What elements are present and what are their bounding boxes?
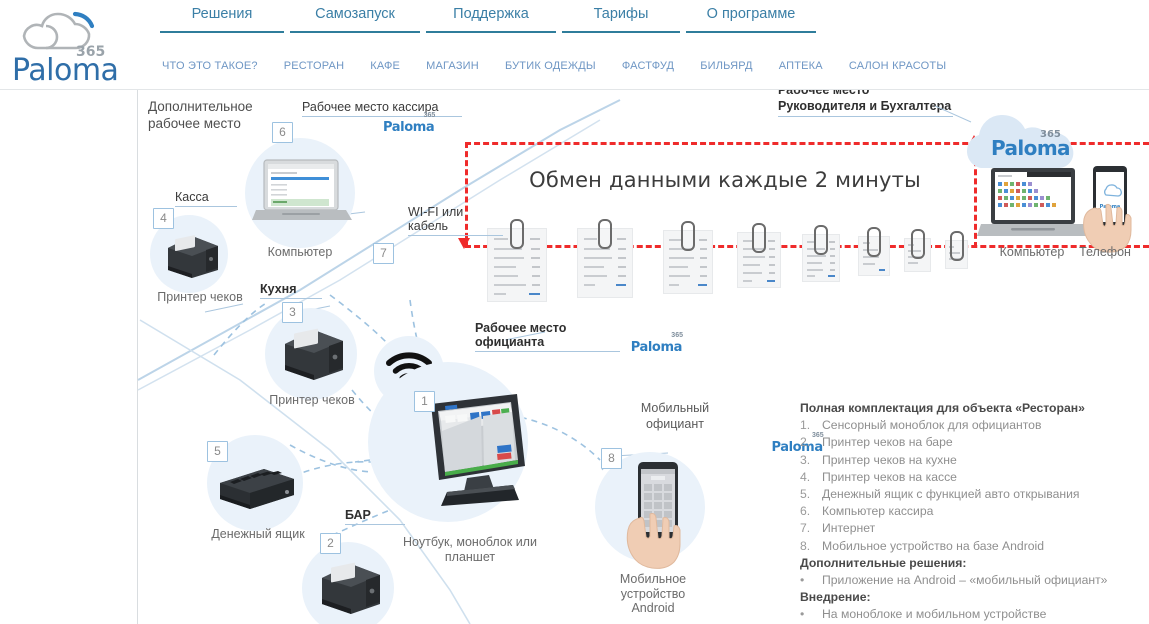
svg-text:365: 365 bbox=[1040, 129, 1061, 140]
spec-number: 8. bbox=[800, 538, 822, 555]
callout-underline bbox=[302, 116, 462, 117]
spec-extra-title: Дополнительные решения: bbox=[800, 555, 1130, 572]
badge-1[interactable]: 1 bbox=[414, 391, 435, 412]
paperclip-icon bbox=[598, 219, 612, 249]
callout-underline bbox=[260, 298, 322, 299]
android-phone-in-hand-image bbox=[620, 458, 696, 587]
spec-number: 4. bbox=[800, 469, 822, 486]
device-label-android: Мобильное устройство Android bbox=[598, 572, 708, 616]
drawer-svg bbox=[216, 465, 298, 515]
callout-underline bbox=[778, 116, 953, 117]
spec-number: 3. bbox=[800, 452, 822, 469]
main-navigation: Решения Самозапуск Поддержка Тарифы О пр… bbox=[160, 4, 816, 38]
subnav-item-magazin[interactable]: МАГАЗИН bbox=[426, 60, 479, 72]
device-label-line2: устройство bbox=[598, 587, 708, 602]
manager-leader-line bbox=[935, 102, 975, 126]
subnav-item-butik-odezhdy[interactable]: БУТИК ОДЕЖДЫ bbox=[505, 60, 596, 72]
laptop-svg bbox=[977, 166, 1089, 244]
spec-item: 5. Денежный ящик с функцией авто открыва… bbox=[800, 486, 1130, 503]
flow-arrow-down-icon bbox=[458, 238, 470, 249]
spec-text: На моноблоке и мобильном устройстве уста… bbox=[822, 606, 1130, 624]
device-label-line1: Мобильное bbox=[598, 572, 708, 587]
spec-number: 5. bbox=[800, 486, 822, 503]
receipt-item bbox=[858, 236, 890, 276]
callout-label: Рабочее место кассира bbox=[302, 100, 439, 114]
bullet-icon: • bbox=[800, 606, 822, 624]
spec-impl-title: Внедрение: bbox=[800, 589, 1130, 606]
printer-svg bbox=[278, 320, 348, 382]
callout-label: WI-FI или кабель bbox=[408, 205, 463, 233]
spec-number: 2. bbox=[800, 434, 822, 451]
printer-svg bbox=[162, 228, 222, 280]
cash-drawer-image bbox=[216, 465, 298, 520]
spec-item: 8. Мобильное устройство на базе Android bbox=[800, 538, 1130, 555]
paperclip-icon bbox=[510, 219, 524, 249]
spec-extra-item: • Приложение на Android – «мобильный офи… bbox=[800, 572, 1130, 589]
callout-mobile-waiter: Мобильный официант bbox=[620, 400, 730, 432]
spec-impl-item: • На моноблоке и мобильном устройстве ус… bbox=[800, 606, 1130, 624]
cloud-laptop-image bbox=[977, 166, 1089, 249]
phone-svg bbox=[620, 458, 696, 582]
badge-3[interactable]: 3 bbox=[282, 302, 303, 323]
spec-text: Денежный ящик с функцией авто открывания bbox=[822, 486, 1130, 503]
device-label-monoblock: Ноутбук, моноблок или планшет bbox=[380, 535, 560, 565]
callout-waiter-workplace: Рабочее место официанта bbox=[475, 321, 620, 352]
spec-text: Мобильное устройство на базе Android bbox=[822, 538, 1130, 555]
callout-label: Касса bbox=[175, 190, 209, 204]
nav-label: Решения bbox=[160, 6, 284, 31]
spec-text: Интернет bbox=[822, 520, 1130, 537]
callout-wifi-or-cable: WI-FI или кабель bbox=[408, 205, 503, 236]
paloma-mini-logo: Paloma 365 bbox=[383, 119, 434, 135]
nav-item-o-programme[interactable]: О программе bbox=[686, 4, 816, 33]
badge-2[interactable]: 2 bbox=[320, 533, 341, 554]
paloma-mini-logo: Paloma 365 bbox=[631, 339, 682, 355]
receipt-item bbox=[487, 228, 547, 302]
callout-underline bbox=[408, 235, 503, 236]
paperclip-icon bbox=[911, 229, 925, 259]
subnav-item-bilyard[interactable]: БИЛЬЯРД bbox=[700, 60, 752, 72]
callout-label: БАР bbox=[345, 508, 371, 522]
spec-item: 3. Принтер чеков на кухне bbox=[800, 452, 1130, 469]
phone-hand-svg: Paloma bbox=[1079, 164, 1143, 254]
nav-underline bbox=[290, 31, 420, 33]
spec-item: 6. Компьютер кассира bbox=[800, 503, 1130, 520]
badge-7[interactable]: 7 bbox=[373, 243, 394, 264]
subnav-item-restoran[interactable]: РЕСТОРАН bbox=[284, 60, 345, 72]
nav-item-tarify[interactable]: Тарифы bbox=[562, 4, 680, 33]
device-label-line2: планшет bbox=[380, 550, 560, 565]
spec-title: Полная комплектация для объекта «Рестора… bbox=[800, 400, 1130, 417]
receipt-printer-image-3 bbox=[278, 320, 348, 387]
nav-item-samozapusk[interactable]: Самозапуск bbox=[290, 4, 420, 33]
paperclip-icon bbox=[814, 225, 828, 255]
paloma-365: 365 bbox=[671, 332, 683, 339]
device-label-printer-3: Принтер чеков bbox=[252, 393, 372, 408]
badge-8[interactable]: 8 bbox=[601, 448, 622, 469]
spec-item: 7. Интернет bbox=[800, 520, 1130, 537]
receipt-item bbox=[737, 232, 781, 288]
device-label-printer-4: Принтер чеков bbox=[140, 290, 260, 305]
callout-line2: официант bbox=[620, 416, 730, 432]
receipt-item bbox=[904, 238, 931, 272]
spec-number: 6. bbox=[800, 503, 822, 520]
device-label-computer: Компьютер bbox=[240, 245, 360, 260]
monitor-svg bbox=[425, 388, 535, 508]
subnav-item-fastfud[interactable]: ФАСТФУД bbox=[622, 60, 674, 72]
paloma-word: Paloma bbox=[383, 120, 434, 135]
laptop-svg bbox=[252, 158, 352, 230]
page-root: 365 Paloma Решения Самозапуск Поддержка … bbox=[0, 0, 1149, 624]
spec-item: 4. Принтер чеков на кассе bbox=[800, 469, 1130, 486]
subnav-item-chto-eto-takoe[interactable]: ЧТО ЭТО ТАКОЕ? bbox=[162, 60, 258, 72]
badge-4[interactable]: 4 bbox=[153, 208, 174, 229]
subnav-item-salon-krasoty[interactable]: САЛОН КРАСОТЫ bbox=[849, 60, 946, 72]
callout-cashier-workplace: Рабочее место кассира bbox=[302, 100, 462, 117]
spec-text: Компьютер кассира bbox=[822, 503, 1130, 520]
callout-underline bbox=[345, 524, 405, 525]
callout-label: Рабочее место официанта bbox=[475, 321, 566, 349]
spec-text: Принтер чеков на баре bbox=[822, 434, 1130, 451]
spec-number: 1. bbox=[800, 417, 822, 434]
paloma-365: 365 bbox=[424, 112, 436, 119]
badge-5[interactable]: 5 bbox=[207, 441, 228, 462]
receipt-item bbox=[802, 234, 840, 282]
device-label-line3: Android bbox=[598, 601, 708, 616]
subnav-item-apteka[interactable]: АПТЕКА bbox=[779, 60, 823, 72]
spec-text: Приложение на Android – «мобильный офици… bbox=[822, 572, 1130, 589]
device-label-cloud-phone: Телефон bbox=[1060, 245, 1149, 260]
spec-list: Полная комплектация для объекта «Рестора… bbox=[800, 400, 1130, 624]
paloma-logo-svg: 365 Paloma bbox=[6, 4, 126, 86]
spec-text: Принтер чеков на кассе bbox=[822, 469, 1130, 486]
diagram-canvas: Обмен данными каждые 2 минуты bbox=[0, 90, 1149, 624]
section-title-line1: Дополнительное bbox=[148, 98, 318, 115]
pos-monoblock-image bbox=[425, 388, 535, 513]
nav-label: Самозапуск bbox=[290, 6, 420, 31]
callout-line1: Рабочее место bbox=[778, 90, 978, 98]
receipt-item bbox=[577, 228, 633, 298]
nav-label: Тарифы bbox=[562, 6, 680, 31]
nav-item-podderzhka[interactable]: Поддержка bbox=[426, 4, 556, 33]
spec-item: 1. Сенсорный моноблок для официантов bbox=[800, 417, 1130, 434]
site-header: 365 Paloma Решения Самозапуск Поддержка … bbox=[0, 0, 1149, 90]
spec-text: Сенсорный моноблок для официантов bbox=[822, 417, 1130, 434]
callout-underline bbox=[475, 351, 620, 352]
callout-underline bbox=[175, 206, 237, 207]
device-label-line1: Ноутбук, моноблок или bbox=[380, 535, 560, 550]
receipt-item bbox=[663, 230, 713, 294]
nav-underline bbox=[426, 31, 556, 33]
callout-label: Кухня bbox=[260, 282, 297, 296]
paperclip-icon bbox=[867, 227, 881, 257]
receipt-printer-image-4 bbox=[162, 228, 222, 285]
device-label-cash-drawer: Денежный ящик bbox=[198, 527, 318, 542]
spec-text: Принтер чеков на кухне bbox=[822, 452, 1130, 469]
paperclip-icon bbox=[950, 231, 964, 261]
bullet-icon: • bbox=[800, 572, 822, 589]
nav-underline bbox=[686, 31, 816, 33]
paloma-logo[interactable]: 365 Paloma bbox=[6, 4, 126, 86]
subnav-item-kafe[interactable]: КАФЕ bbox=[370, 60, 400, 72]
nav-underline bbox=[160, 31, 284, 33]
callout-kitchen: Кухня bbox=[260, 282, 322, 299]
svg-text:Paloma: Paloma bbox=[12, 53, 118, 86]
paperclip-icon bbox=[681, 221, 695, 251]
receipt-printer-image-2 bbox=[315, 554, 385, 621]
header-divider bbox=[0, 89, 1149, 90]
callout-cash-register: Касса bbox=[175, 190, 237, 207]
nav-underline bbox=[562, 31, 680, 33]
spec-number: 7. bbox=[800, 520, 822, 537]
nav-item-resheniya[interactable]: Решения bbox=[160, 4, 284, 33]
nav-label: О программе bbox=[686, 6, 816, 31]
badge-6[interactable]: 6 bbox=[272, 122, 293, 143]
paloma-word: Paloma bbox=[631, 340, 682, 355]
laptop-computer-image bbox=[252, 158, 352, 235]
callout-line1: Мобильный bbox=[620, 400, 730, 416]
sub-navigation: ЧТО ЭТО ТАКОЕ? РЕСТОРАН КАФЕ МАГАЗИН БУТ… bbox=[162, 60, 946, 72]
callout-bar: БАР bbox=[345, 508, 405, 525]
paperclip-icon bbox=[752, 223, 766, 253]
data-exchange-headline: Обмен данными каждые 2 минуты bbox=[470, 168, 980, 192]
nav-label: Поддержка bbox=[426, 6, 556, 31]
spec-item: 2. Принтер чеков на баре bbox=[800, 434, 1130, 451]
printer-svg bbox=[315, 554, 385, 616]
